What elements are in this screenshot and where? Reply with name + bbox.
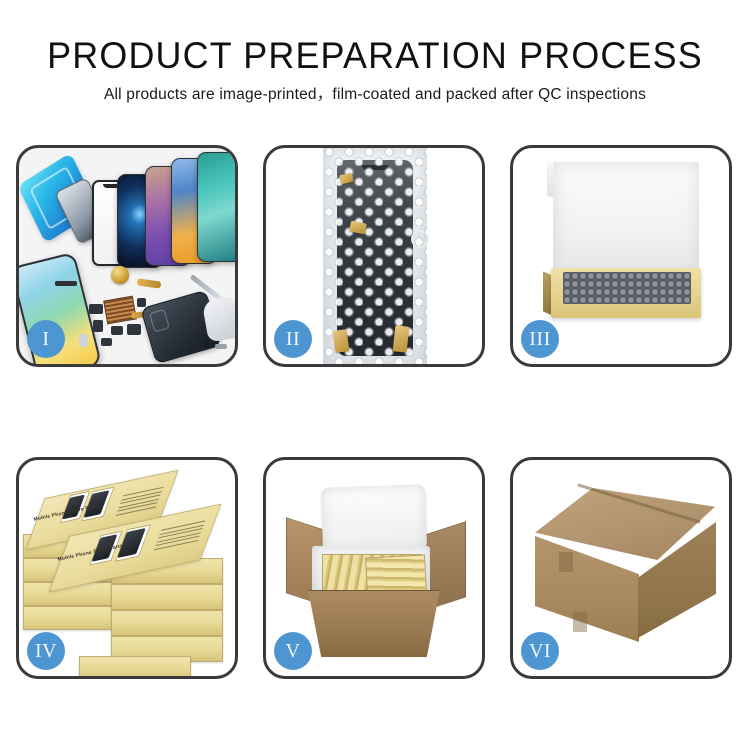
page-header: PRODUCT PREPARATION PROCESS All products… bbox=[0, 0, 750, 106]
tape-strip-icon bbox=[333, 329, 350, 353]
small-part-icon bbox=[89, 304, 103, 314]
speaker-part-icon bbox=[55, 281, 77, 286]
small-part-icon bbox=[101, 338, 112, 346]
stacked-box bbox=[79, 656, 191, 676]
packed-boxes-icon bbox=[365, 554, 427, 595]
stacked-box bbox=[111, 610, 223, 636]
grey-foam-insert-icon bbox=[563, 272, 691, 304]
small-part-icon bbox=[127, 324, 141, 335]
small-part-icon bbox=[137, 298, 146, 307]
page-root: PRODUCT PREPARATION PROCESS All products… bbox=[0, 0, 750, 750]
small-part-icon bbox=[93, 320, 103, 332]
foam-lid-icon bbox=[321, 484, 427, 554]
process-step-panel-5[interactable]: V bbox=[263, 457, 485, 679]
step-badge-1: I bbox=[27, 320, 65, 358]
carton-tape-icon bbox=[573, 612, 587, 632]
step-badge-4: IV bbox=[27, 632, 65, 670]
white-box-lid-icon bbox=[553, 162, 699, 282]
process-step-panel-2[interactable]: II bbox=[263, 145, 485, 367]
phone-display-d-icon bbox=[197, 152, 235, 262]
step-badge-2: II bbox=[274, 320, 312, 358]
process-step-grid: I II bbox=[16, 145, 736, 679]
stacked-box bbox=[23, 606, 117, 630]
carton-body-icon bbox=[308, 590, 440, 657]
process-step-panel-3[interactable]: III bbox=[510, 145, 732, 367]
small-part-icon bbox=[79, 334, 88, 347]
page-title: PRODUCT PREPARATION PROCESS bbox=[11, 34, 739, 78]
stacked-box bbox=[111, 584, 223, 610]
carton-tape-icon bbox=[559, 552, 573, 572]
vibration-motor-part-icon bbox=[111, 266, 129, 284]
logic-board-part-icon bbox=[103, 296, 137, 325]
step-badge-5: V bbox=[274, 632, 312, 670]
step-badge-3: III bbox=[521, 320, 559, 358]
process-step-panel-1[interactable]: I bbox=[16, 145, 238, 367]
tape-strip-icon bbox=[393, 325, 410, 352]
process-step-panel-4[interactable]: Mobile Phone Spare Parts Mobile Phone Sp… bbox=[16, 457, 238, 679]
small-part-icon bbox=[215, 344, 227, 349]
step-badge-6: VI bbox=[521, 632, 559, 670]
process-step-panel-6[interactable]: VI bbox=[510, 457, 732, 679]
flex-cable-part-icon bbox=[137, 278, 162, 288]
page-subtitle: All products are image-printed，film-coat… bbox=[0, 84, 750, 106]
small-part-icon bbox=[111, 326, 123, 335]
